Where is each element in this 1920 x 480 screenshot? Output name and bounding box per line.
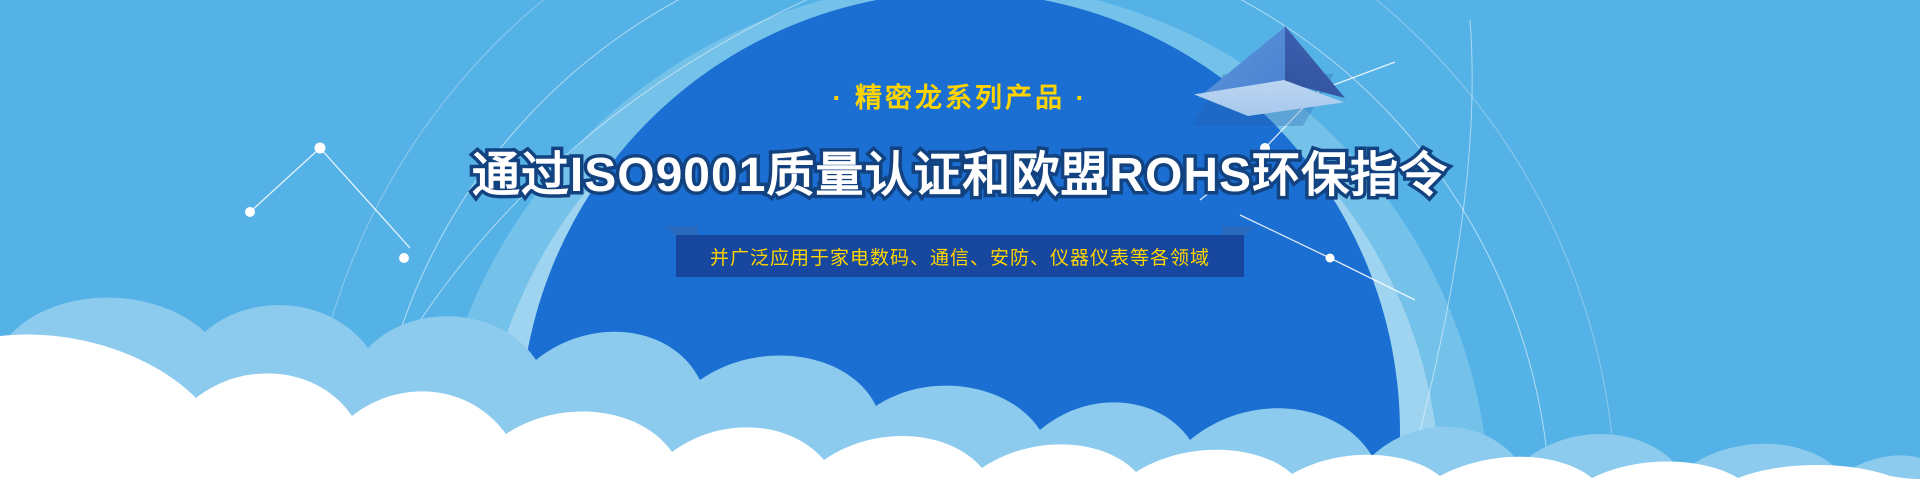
ribbon-tab-right [1222,226,1256,235]
banner-headline: 通过ISO9001质量认证和欧盟ROHS环保指令 [472,135,1448,205]
ribbon-body: 并广泛应用于家电数码、通信、安防、仪器仪表等各领域 [676,235,1244,277]
ribbon-label: 并广泛应用于家电数码、通信、安防、仪器仪表等各领域 [710,243,1210,270]
ribbon-tab-left [664,226,698,235]
banner-ribbon: 并广泛应用于家电数码、通信、安防、仪器仪表等各领域 [676,235,1244,277]
banner-subtitle: · 精密龙系列产品 · [833,76,1088,115]
banner-content: · 精密龙系列产品 · 通过ISO9001质量认证和欧盟ROHS环保指令 并广泛… [0,0,1920,480]
promo-banner: · 精密龙系列产品 · 通过ISO9001质量认证和欧盟ROHS环保指令 并广泛… [0,0,1920,480]
